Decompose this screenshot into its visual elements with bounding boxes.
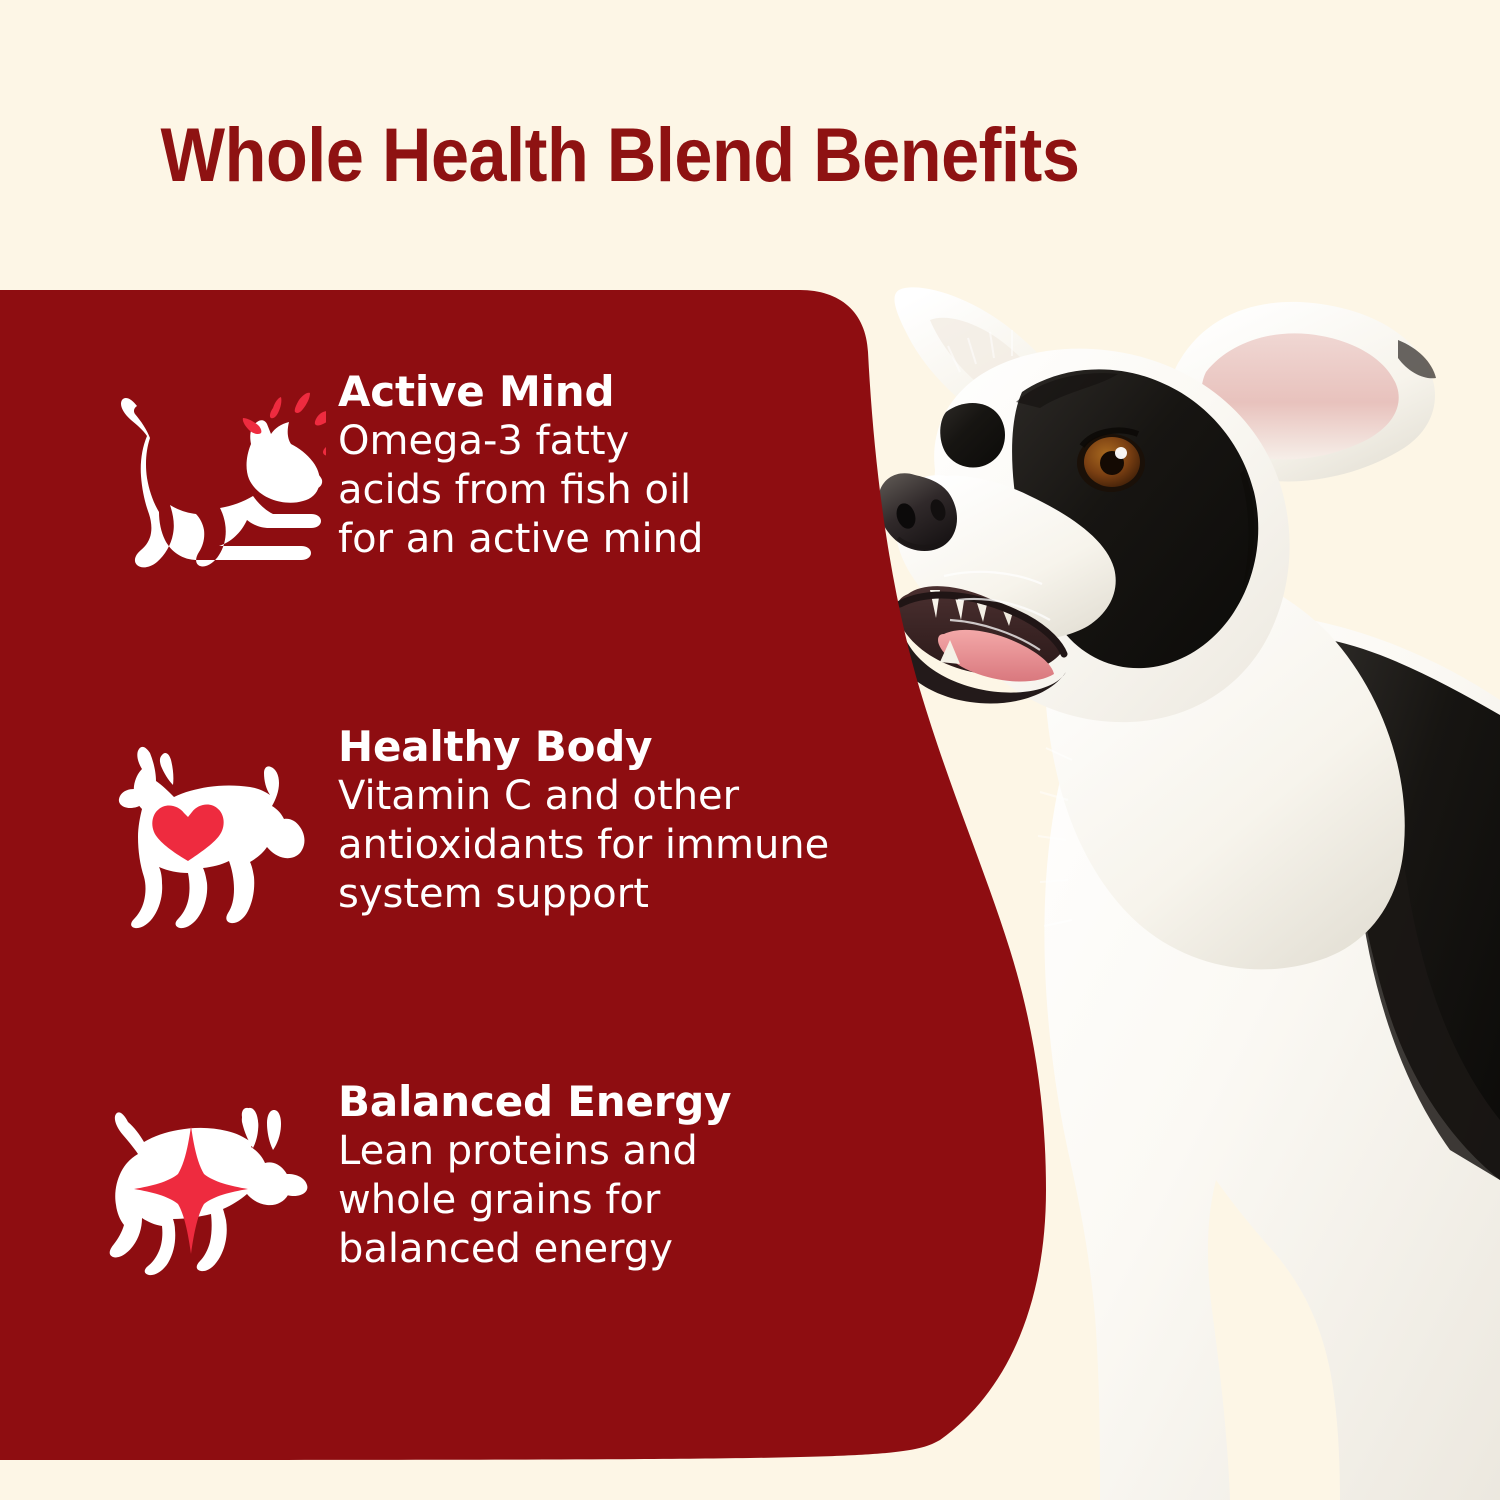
benefit-description: Omega-3 fatty acids from fish oil for an… bbox=[338, 417, 703, 565]
benefit-description: Vitamin C and other antioxidants for imm… bbox=[338, 772, 829, 920]
dog-running-with-sparkle-icon bbox=[88, 1078, 338, 1281]
benefit-title: Balanced Energy bbox=[338, 1078, 731, 1125]
benefit-description-line: balanced energy bbox=[338, 1225, 731, 1274]
benefit-description-line: acids from fish oil bbox=[338, 466, 703, 515]
benefit-item-active-mind: Active Mind Omega-3 fatty acids from fis… bbox=[88, 368, 703, 576]
benefit-description-line: system support bbox=[338, 870, 829, 919]
benefit-description-line: whole grains for bbox=[338, 1176, 731, 1225]
benefit-item-healthy-body: Healthy Body Vitamin C and other antioxi… bbox=[88, 723, 829, 931]
benefit-description-line: Lean proteins and bbox=[338, 1127, 731, 1176]
benefit-description: Lean proteins and whole grains for balan… bbox=[338, 1127, 731, 1275]
benefit-text-block: Balanced Energy Lean proteins and whole … bbox=[338, 1078, 731, 1275]
product-benefits-infographic: Whole Health Blend Benefits bbox=[0, 0, 1500, 1500]
benefits-list: Active Mind Omega-3 fatty acids from fis… bbox=[0, 290, 1000, 1460]
dog-play-bow-with-sparks-icon bbox=[88, 368, 338, 576]
benefit-title: Active Mind bbox=[338, 368, 703, 415]
dog-standing-with-heart-icon bbox=[88, 723, 338, 931]
benefit-description-line: antioxidants for immune bbox=[338, 821, 829, 870]
benefit-description-line: Vitamin C and other bbox=[338, 772, 829, 821]
benefit-text-block: Active Mind Omega-3 fatty acids from fis… bbox=[338, 368, 703, 565]
benefit-text-block: Healthy Body Vitamin C and other antioxi… bbox=[338, 723, 829, 920]
benefit-description-line: for an active mind bbox=[338, 515, 703, 564]
benefit-description-line: Omega-3 fatty bbox=[338, 417, 703, 466]
benefit-item-balanced-energy: Balanced Energy Lean proteins and whole … bbox=[88, 1078, 731, 1281]
benefit-title: Healthy Body bbox=[338, 723, 829, 770]
